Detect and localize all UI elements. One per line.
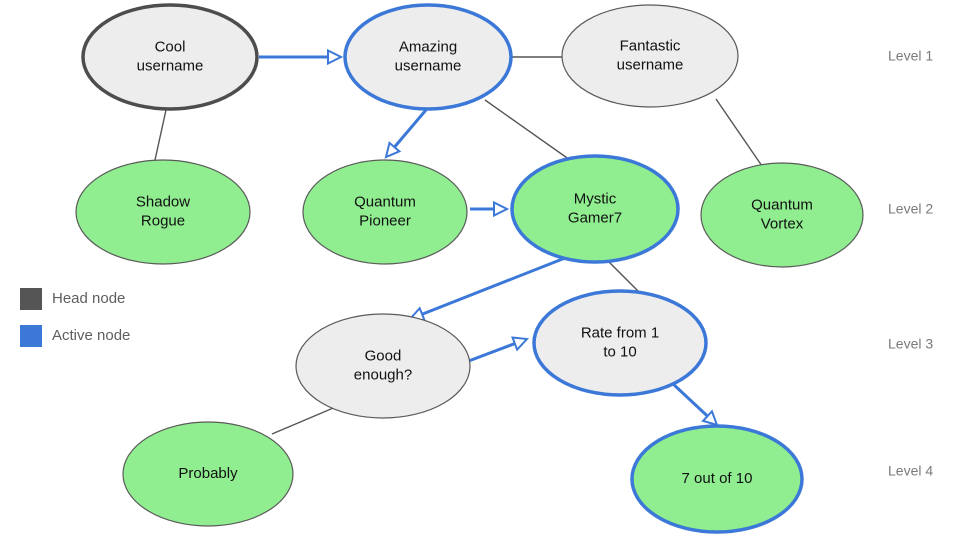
node-ellipse[interactable] (512, 156, 678, 262)
level-labels: Level 1Level 2Level 3Level 4 (888, 48, 933, 479)
legend: Head nodeActive node (20, 288, 130, 347)
active-node-swatch (20, 325, 42, 347)
edge-amazing-to-mystic (485, 100, 570, 160)
edge-line (272, 406, 338, 434)
node-7-out-of-10[interactable]: 7 out of 10 (632, 426, 802, 532)
arrowhead-icon (513, 338, 527, 350)
edge-line (485, 100, 570, 160)
edge-mystic-to-good-enough (410, 258, 565, 320)
arrowhead-icon (328, 51, 341, 64)
node-ellipse[interactable] (701, 163, 863, 267)
level-label-2: Level 2 (888, 201, 933, 217)
edge-line (155, 110, 166, 160)
graph-svg: CoolusernameAmazingusernameFantasticuser… (0, 0, 960, 540)
edge-quantum-pioneer-to-mystic (470, 203, 507, 216)
node-ellipse[interactable] (123, 422, 293, 526)
node-shadow-rogue[interactable]: ShadowRogue (76, 160, 250, 264)
level-label-3: Level 3 (888, 336, 933, 352)
edge-good-enough-to-rate (466, 338, 527, 362)
nodes-layer: CoolusernameAmazingusernameFantasticuser… (76, 5, 863, 532)
legend-label: Active node (52, 327, 130, 344)
head-node-swatch (20, 288, 42, 310)
node-ellipse[interactable] (76, 160, 250, 264)
legend-label: Head node (52, 290, 125, 307)
node-quantum-pioneer[interactable]: QuantumPioneer (303, 160, 467, 264)
edge-good-enough-to-probably (272, 406, 338, 434)
node-quantum-vortex[interactable]: QuantumVortex (701, 163, 863, 267)
node-good-enough[interactable]: Goodenough? (296, 314, 470, 418)
legend-item-active-node-swatch: Active node (20, 325, 130, 347)
edge-cool-to-shadow (155, 110, 166, 160)
node-cool-username[interactable]: Coolusername (83, 5, 257, 109)
node-ellipse[interactable] (534, 291, 706, 395)
node-fantastic-username[interactable]: Fantasticusername (562, 5, 738, 107)
legend-item-head-node-swatch: Head node (20, 288, 125, 310)
arrowhead-icon (494, 203, 507, 216)
node-ellipse[interactable] (345, 5, 511, 109)
edge-amazing-to-quantum-pioneer (386, 110, 426, 157)
node-ellipse[interactable] (562, 5, 738, 107)
node-ellipse[interactable] (83, 5, 257, 109)
node-probably[interactable]: Probably (123, 422, 293, 526)
node-ellipse[interactable] (296, 314, 470, 418)
edge-cool-to-amazing (259, 51, 341, 64)
node-amazing-username[interactable]: Amazingusername (345, 5, 511, 109)
edge-line (716, 99, 762, 166)
level-label-4: Level 4 (888, 463, 933, 479)
edge-line (672, 383, 707, 416)
node-ellipse[interactable] (632, 426, 802, 532)
level-label-1: Level 1 (888, 48, 933, 64)
edge-rate-to-7-out-of-10 (672, 383, 717, 425)
edge-line (422, 258, 565, 314)
edge-line (466, 344, 515, 362)
edge-fantastic-to-quantum-vortex (716, 99, 762, 166)
edge-line (394, 110, 426, 147)
node-rate-from-1-to-10[interactable]: Rate from 1to 10 (534, 291, 706, 395)
diagram-canvas: CoolusernameAmazingusernameFantasticuser… (0, 0, 960, 540)
node-ellipse[interactable] (303, 160, 467, 264)
node-mystic-gamer7[interactable]: MysticGamer7 (512, 156, 678, 262)
